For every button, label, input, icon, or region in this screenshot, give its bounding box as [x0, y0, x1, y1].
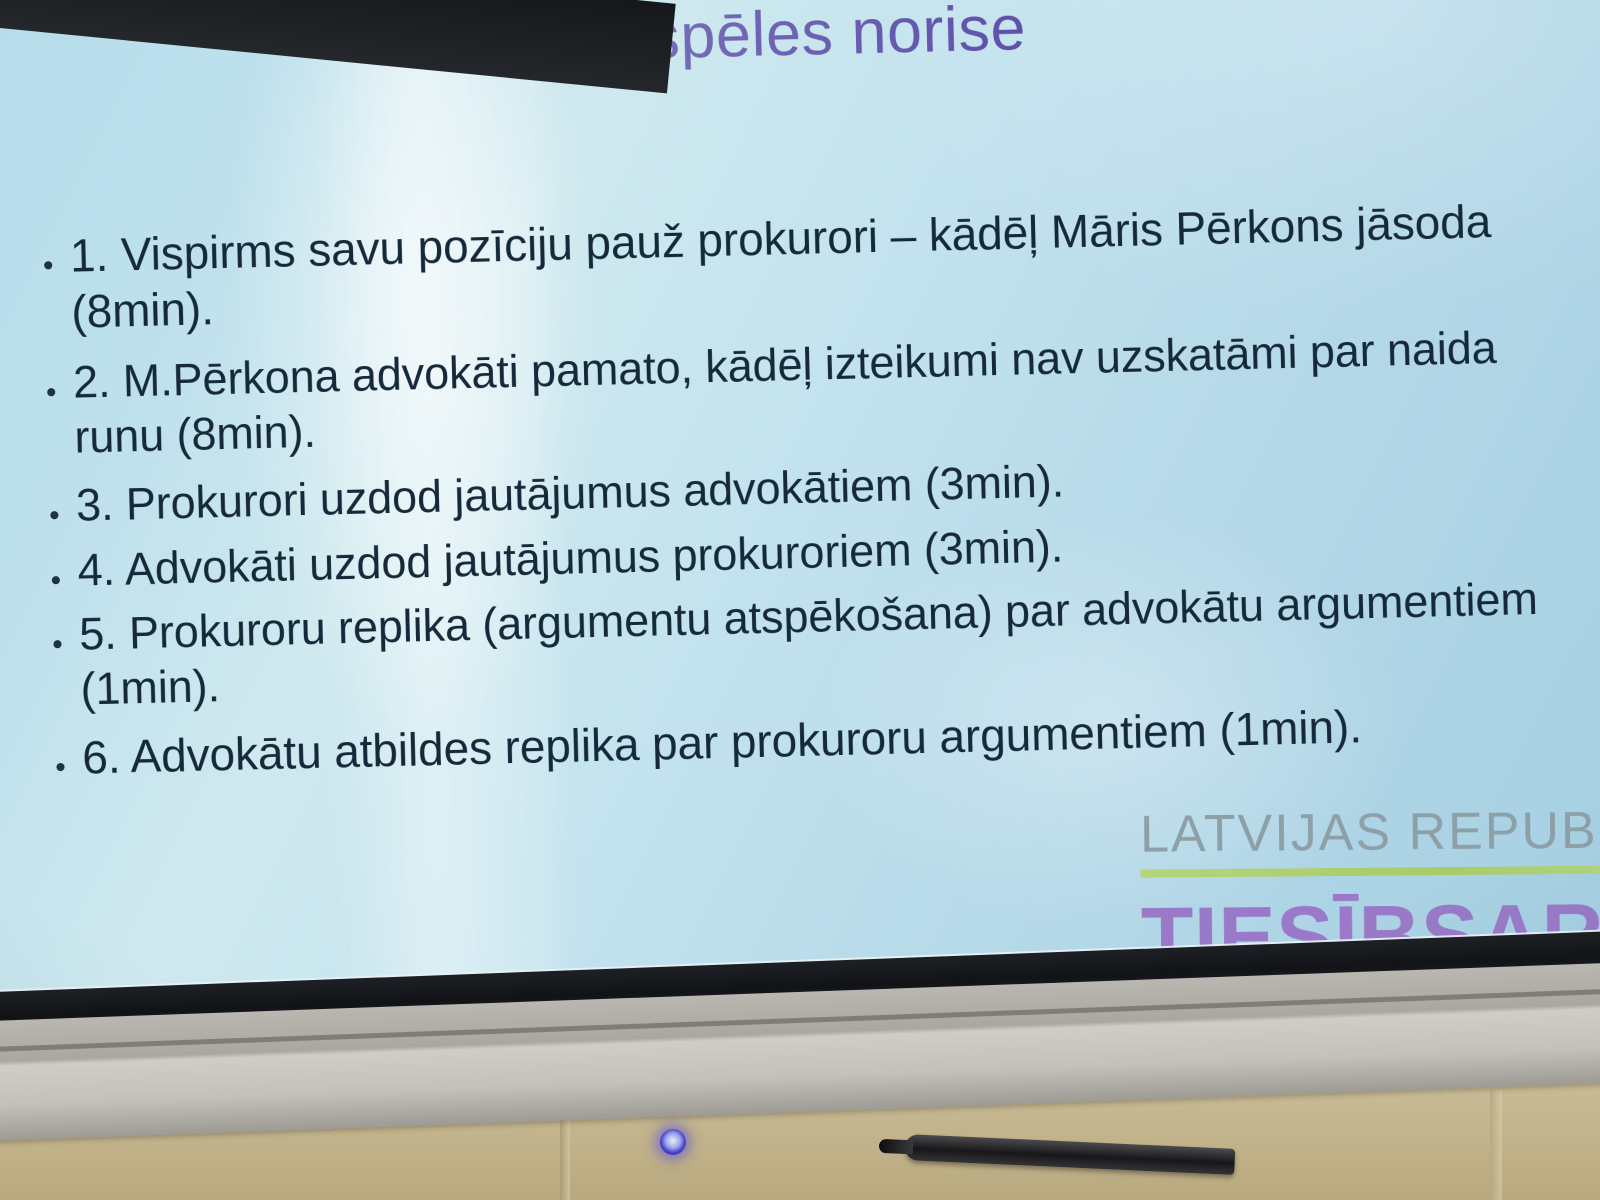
projection-screen: Tiesu izspēles norise • 1. Vispirms savu…: [0, 0, 1600, 1040]
wall-seam-right: [1490, 1090, 1502, 1200]
screen-vignette: [0, 0, 1600, 1040]
photo-of-presentation-screen: Tiesu izspēles norise • 1. Vispirms savu…: [0, 0, 1600, 1200]
power-indicator-led[interactable]: [660, 1129, 686, 1155]
